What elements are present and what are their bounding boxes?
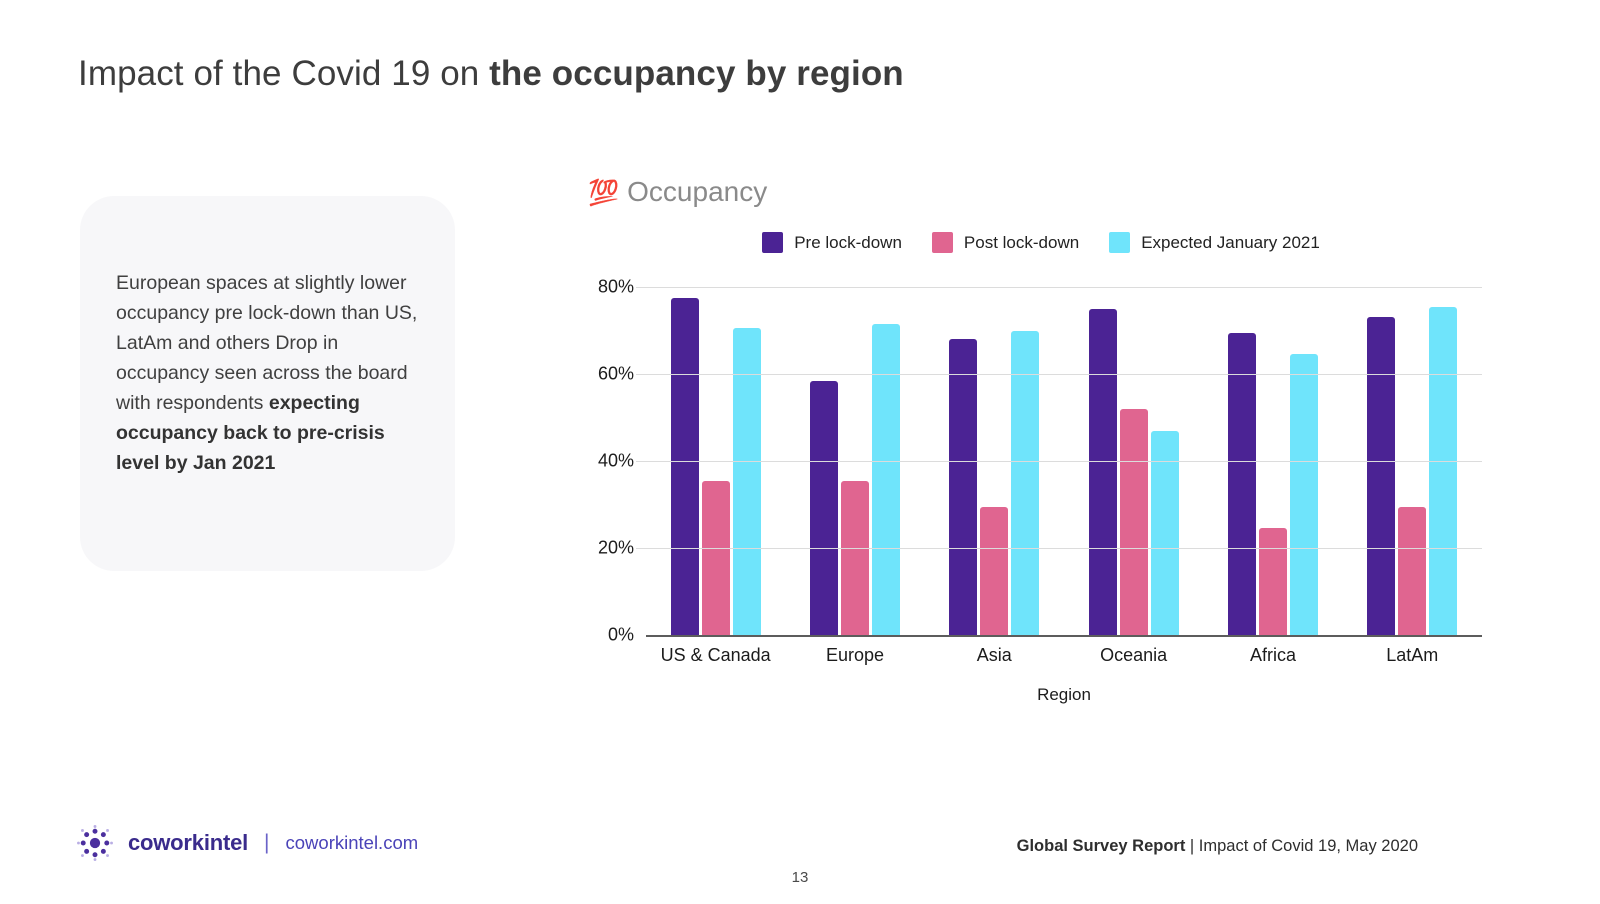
legend-item[interactable]: Post lock-down (932, 232, 1079, 253)
x-axis-tick-label: Asia (977, 645, 1012, 666)
x-axis-label: Region (646, 685, 1482, 705)
bar[interactable] (671, 298, 699, 635)
bar[interactable] (1429, 307, 1457, 635)
bar[interactable] (1011, 331, 1039, 636)
brand-url[interactable]: coworkintel.com (286, 832, 419, 854)
bar[interactable] (1089, 309, 1117, 635)
bar[interactable] (1259, 528, 1287, 635)
occupancy-chart: 💯 Occupancy Pre lock-downPost lock-downE… (588, 176, 1494, 721)
legend-label: Expected January 2021 (1141, 233, 1320, 253)
chart-title: 💯 Occupancy (588, 176, 767, 208)
page-title-bold: the occupancy by region (489, 54, 904, 93)
page-title: Impact of the Covid 19 on the occupancy … (78, 54, 904, 94)
gridline (646, 374, 1482, 375)
footer-report-title: Global Survey Report (1017, 837, 1186, 855)
bar[interactable] (872, 324, 900, 635)
x-axis-tick-label: US & Canada (661, 645, 771, 666)
page-number: 13 (792, 869, 809, 886)
y-axis-tick-label: 60% (598, 364, 634, 385)
legend-swatch (932, 232, 953, 253)
plot-area: US & CanadaEuropeAsiaOceaniaAfricaLatAm … (646, 287, 1482, 637)
y-axis-tick-label: 40% (598, 451, 634, 472)
callout-card: European spaces at slightly lower occupa… (80, 196, 455, 571)
y-tick-mark (636, 287, 646, 288)
footer-report-subtitle: | Impact of Covid 19, May 2020 (1185, 837, 1418, 855)
legend-label: Pre lock-down (794, 233, 902, 253)
legend-item[interactable]: Expected January 2021 (1109, 232, 1320, 253)
bar[interactable] (949, 339, 977, 635)
y-tick-mark (636, 548, 646, 549)
legend-item[interactable]: Pre lock-down (762, 232, 902, 253)
gridline (646, 548, 1482, 549)
legend-swatch (1109, 232, 1130, 253)
brand-divider: | (262, 831, 271, 855)
brand-name: coworkintel (128, 830, 248, 856)
y-tick-mark (636, 461, 646, 462)
x-axis-tick-label: Oceania (1100, 645, 1167, 666)
footer-report-label: Global Survey Report | Impact of Covid 1… (1017, 837, 1418, 856)
gridline (646, 461, 1482, 462)
bar[interactable] (841, 481, 869, 635)
bar[interactable] (1367, 317, 1395, 635)
bar[interactable] (702, 481, 730, 635)
bar[interactable] (980, 507, 1008, 635)
footer-brand: coworkintel | coworkintel.com (76, 824, 418, 862)
chart-title-text: Occupancy (627, 176, 767, 208)
y-tick-mark (636, 374, 646, 375)
page-title-plain: Impact of the Covid 19 on (78, 54, 489, 93)
coworkintel-logo-icon (76, 824, 114, 862)
chart-legend: Pre lock-downPost lock-downExpected Janu… (588, 232, 1494, 253)
x-axis-tick-label: Europe (826, 645, 884, 666)
y-axis-tick-label: 20% (598, 538, 634, 559)
bar[interactable] (1120, 409, 1148, 635)
x-axis-tick-label: LatAm (1386, 645, 1438, 666)
plot-wrap: US & CanadaEuropeAsiaOceaniaAfricaLatAm … (588, 272, 1494, 722)
bar[interactable] (1290, 354, 1318, 635)
legend-label: Post lock-down (964, 233, 1079, 253)
bar[interactable] (1398, 507, 1426, 635)
bar[interactable] (810, 381, 838, 635)
hundred-points-icon: 💯 (588, 181, 619, 206)
y-axis-tick-label: 80% (598, 277, 634, 298)
x-axis-tick-label: Africa (1250, 645, 1296, 666)
callout-text: European spaces at slightly lower occupa… (116, 268, 421, 478)
callout-text-plain: European spaces at slightly lower occupa… (116, 272, 417, 414)
legend-swatch (762, 232, 783, 253)
bar[interactable] (1228, 333, 1256, 635)
gridline (646, 287, 1482, 288)
y-axis-tick-label: 0% (608, 625, 634, 646)
